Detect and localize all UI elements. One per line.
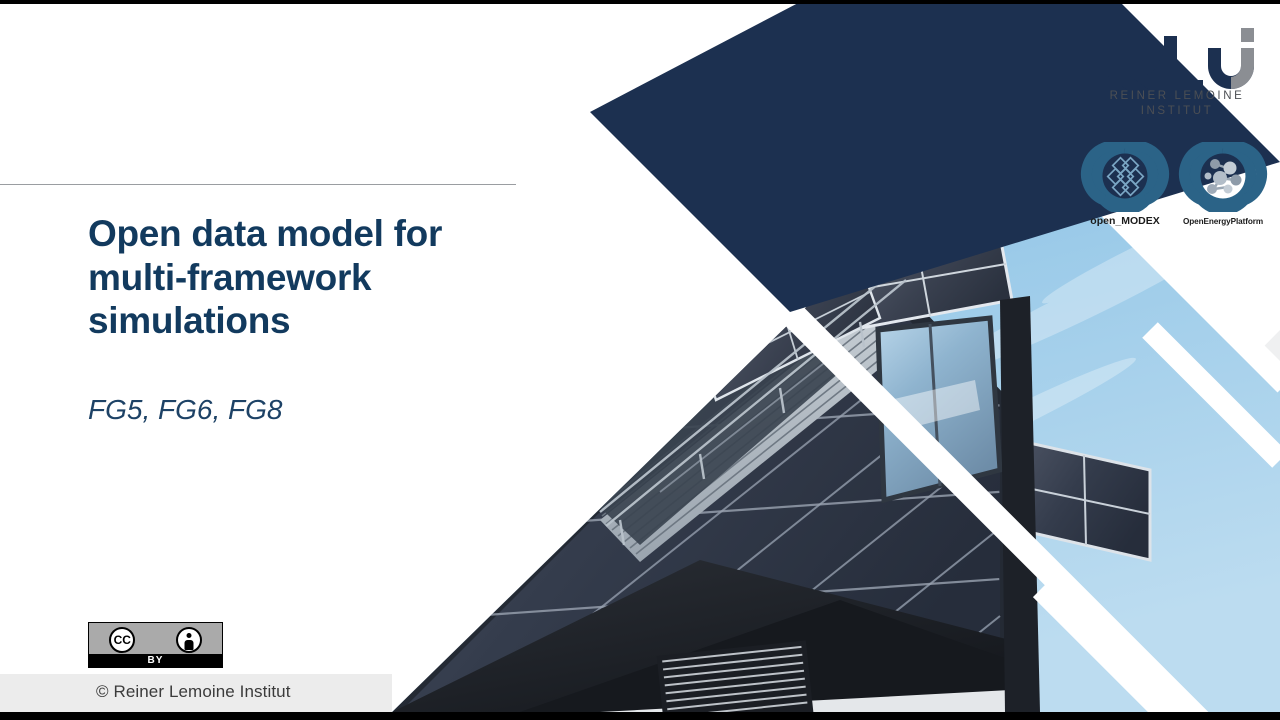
cc-by-label: BY bbox=[148, 656, 164, 666]
diamond-lattice-icon bbox=[1080, 142, 1170, 212]
page-subtitle: FG5, FG6, FG8 bbox=[88, 394, 508, 426]
project-logos: open_MODEX bbox=[1080, 142, 1270, 226]
open-modex-logo[interactable]: open_MODEX bbox=[1080, 142, 1170, 226]
connected-nodes-icon bbox=[1178, 142, 1268, 212]
footer-copyright: © Reiner Lemoine Institut bbox=[96, 682, 291, 702]
open-energy-platform-logo[interactable]: OpenEnergyPlatform bbox=[1178, 142, 1268, 226]
slide-canvas: Open data model for multi-framework simu… bbox=[0, 0, 1280, 720]
open-modex-label: open_MODEX bbox=[1080, 216, 1170, 227]
rli-wordmark: REINER LEMOINE INSTITUT bbox=[1092, 89, 1262, 120]
rli-wordmark-line-1: REINER LEMOINE bbox=[1092, 89, 1262, 105]
attribution-person-icon bbox=[176, 627, 202, 653]
cc-badge-top: CC bbox=[89, 623, 222, 656]
page-title: Open data model for multi-framework simu… bbox=[88, 212, 508, 343]
cc-badge-bottom: BY bbox=[89, 654, 222, 667]
creative-commons-icon: CC bbox=[109, 627, 135, 653]
page-title-line-3: simulations bbox=[88, 299, 508, 343]
slide-artwork bbox=[0, 0, 1280, 720]
rli-logo-mark bbox=[1092, 28, 1262, 92]
letterbox-top-bar bbox=[0, 0, 1280, 4]
open-energy-platform-label: OpenEnergyPlatform bbox=[1178, 218, 1268, 226]
cc-by-badge[interactable]: CC BY bbox=[88, 622, 223, 668]
page-title-line-2: multi-framework bbox=[88, 256, 508, 300]
rli-logo: REINER LEMOINE INSTITUT bbox=[1092, 28, 1262, 120]
page-title-line-1: Open data model for bbox=[88, 212, 508, 256]
rli-wordmark-line-2: INSTITUT bbox=[1092, 104, 1262, 120]
title-divider-rule bbox=[0, 184, 516, 185]
letterbox-bottom-bar bbox=[0, 712, 1280, 720]
